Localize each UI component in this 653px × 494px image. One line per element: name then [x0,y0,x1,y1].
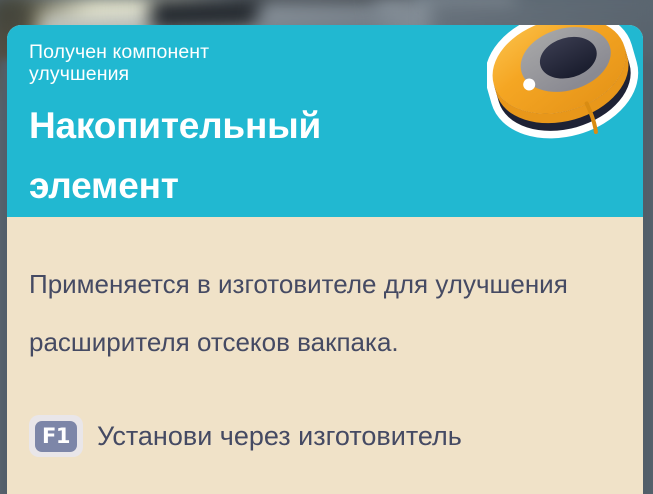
icon-outline [487,25,639,146]
notification-eyebrow-label: Получен компонент улучшения [29,41,359,85]
action-hint-row[interactable]: F1 Установи через изготовитель [29,415,621,457]
icon-highlight-dot [522,77,537,92]
item-description-text: Применяется в изготовителе для улучшения… [29,255,589,371]
item-name-title: Накопительный элемент [29,96,459,216]
item-pickup-notification: Получен компонент улучшения Накопительны… [7,25,643,494]
notification-body: Применяется в изготовителе для улучшения… [7,217,643,457]
icon-bottom-rim [494,47,639,146]
notification-header: Получен компонент улучшения Накопительны… [7,25,643,217]
keybind-badge: F1 [29,415,83,457]
action-hint-text: Установи через изготовитель [97,419,462,453]
capacitor-item-icon [487,25,639,155]
icon-metal-ring [513,25,619,102]
icon-seam [587,103,597,132]
icon-center-hole [535,30,602,84]
keybind-label: F1 [35,421,77,452]
icon-side-wall [494,47,639,138]
icon-top-face [487,25,637,129]
